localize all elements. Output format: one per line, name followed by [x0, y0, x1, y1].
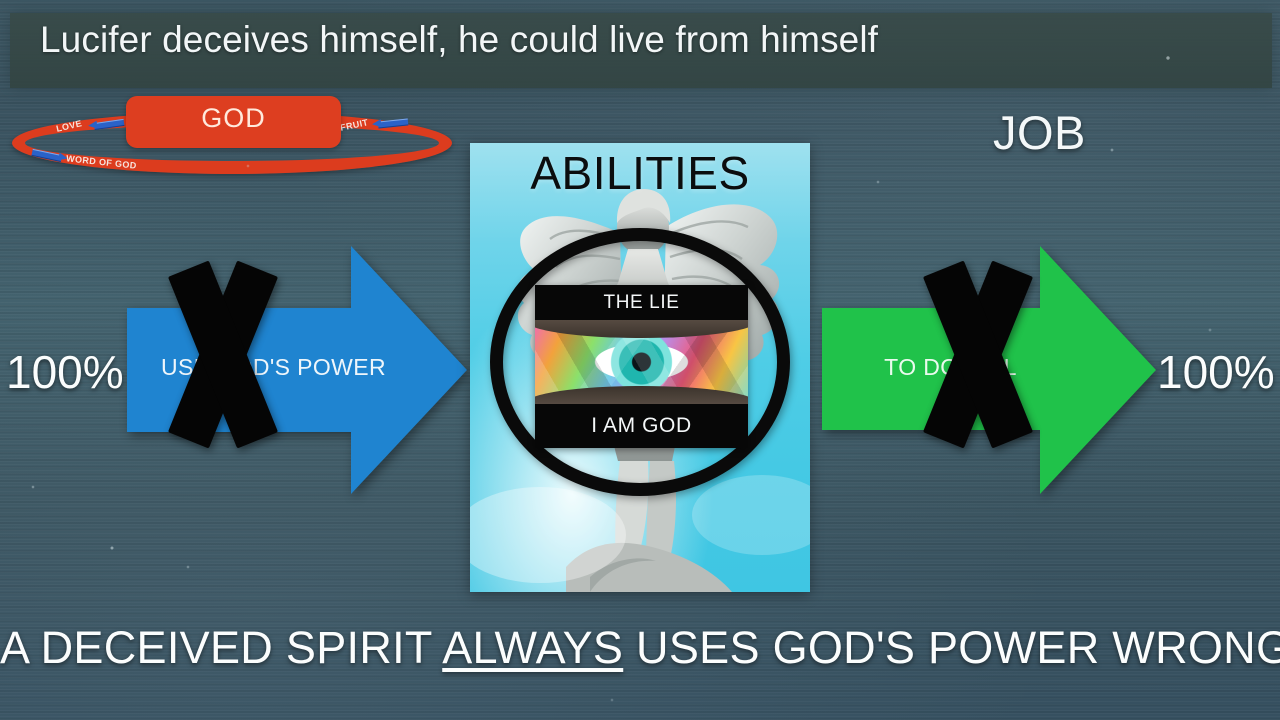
mosaic-eye-image [535, 320, 748, 404]
job-label: JOB [993, 105, 1086, 160]
god-center-label: GOD [126, 103, 341, 134]
the-lie-card: THE LIE I AM GOD [535, 285, 748, 448]
god-cycle-diagram: LOVE FRUIT WORD OF GOD GOD [8, 96, 458, 186]
caption-before: A DECEIVED SPIRIT [0, 622, 442, 673]
i-am-god-label: I AM GOD [535, 404, 748, 448]
left-percent-label: 100% [6, 345, 124, 399]
slide-title: Lucifer deceives himself, he could live … [40, 19, 1140, 61]
right-percent-label: 100% [1157, 345, 1275, 399]
left-cross-out-x-icon [155, 262, 290, 447]
caption-emphasis: ALWAYS [442, 622, 623, 673]
caption-after: USES GOD'S POWER WRONGLY [623, 622, 1280, 673]
god-center-box: GOD [126, 96, 341, 148]
slide-caption: A DECEIVED SPIRIT ALWAYS USES GOD'S POWE… [0, 622, 1280, 674]
right-cross-out-x-icon [910, 262, 1045, 447]
presentation-slide: Lucifer deceives himself, he could live … [0, 0, 1280, 720]
the-lie-top-label: THE LIE [535, 285, 748, 320]
abilities-title: ABILITIES [470, 146, 810, 200]
